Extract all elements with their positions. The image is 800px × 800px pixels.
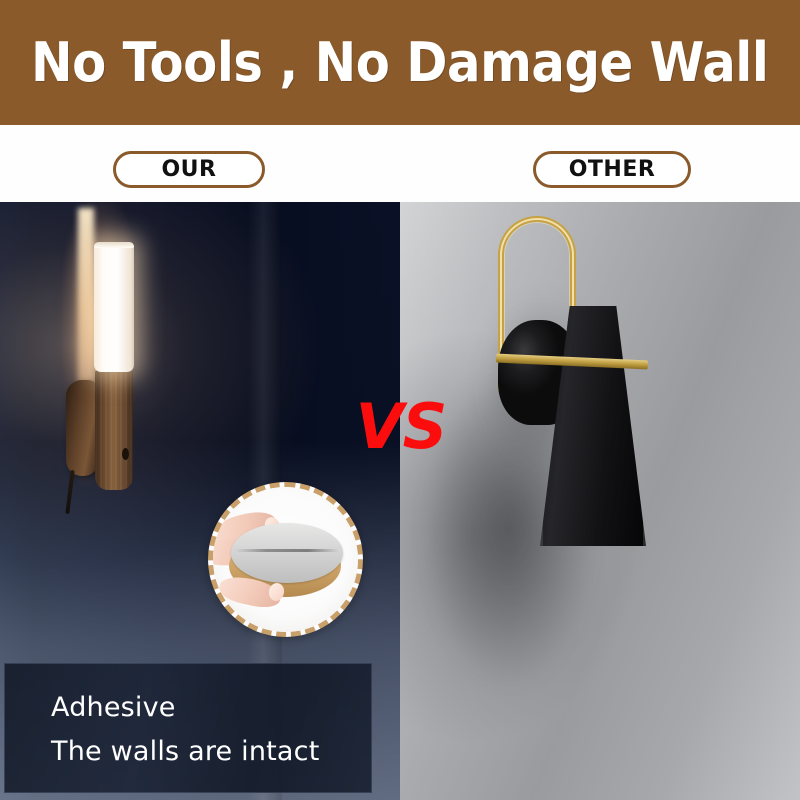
header-banner: No Tools , No Damage Wall	[0, 0, 800, 125]
adhesive-disc-pad	[231, 523, 343, 583]
label-pill-row: OUR OTHER	[0, 125, 800, 202]
comparison-photo-stage: Adhesive The walls are intact S	[0, 202, 800, 800]
caption-our-line2: The walls are intact	[51, 730, 371, 774]
lamp-light-diffuser	[94, 242, 134, 372]
product-comparison-infographic: No Tools , No Damage Wall OUR OTHER	[0, 0, 800, 800]
lamp-power-button-icon	[122, 448, 129, 460]
caption-our-line1: Adhesive	[51, 686, 371, 730]
pill-other-label: OTHER	[569, 157, 656, 182]
pill-our: OUR	[113, 151, 265, 188]
caption-panel-our: Adhesive The walls are intact	[4, 663, 372, 793]
wood-bracket	[66, 380, 98, 476]
vs-badge: VS	[355, 392, 447, 460]
right-photo-other-product: Screw Fixation Destroy the wall	[400, 202, 800, 800]
pill-other: OTHER	[533, 151, 691, 188]
inset-adhesive-mount-photo	[208, 482, 363, 637]
lamp-diffuser-cap	[94, 242, 134, 248]
lamp-wood-grain	[95, 370, 133, 490]
left-photo-our-product: Adhesive The walls are intact	[0, 202, 400, 800]
pill-our-label: OUR	[161, 157, 216, 182]
adhesive-disc-seam	[235, 549, 339, 552]
banner-title: No Tools , No Damage Wall	[31, 31, 768, 94]
